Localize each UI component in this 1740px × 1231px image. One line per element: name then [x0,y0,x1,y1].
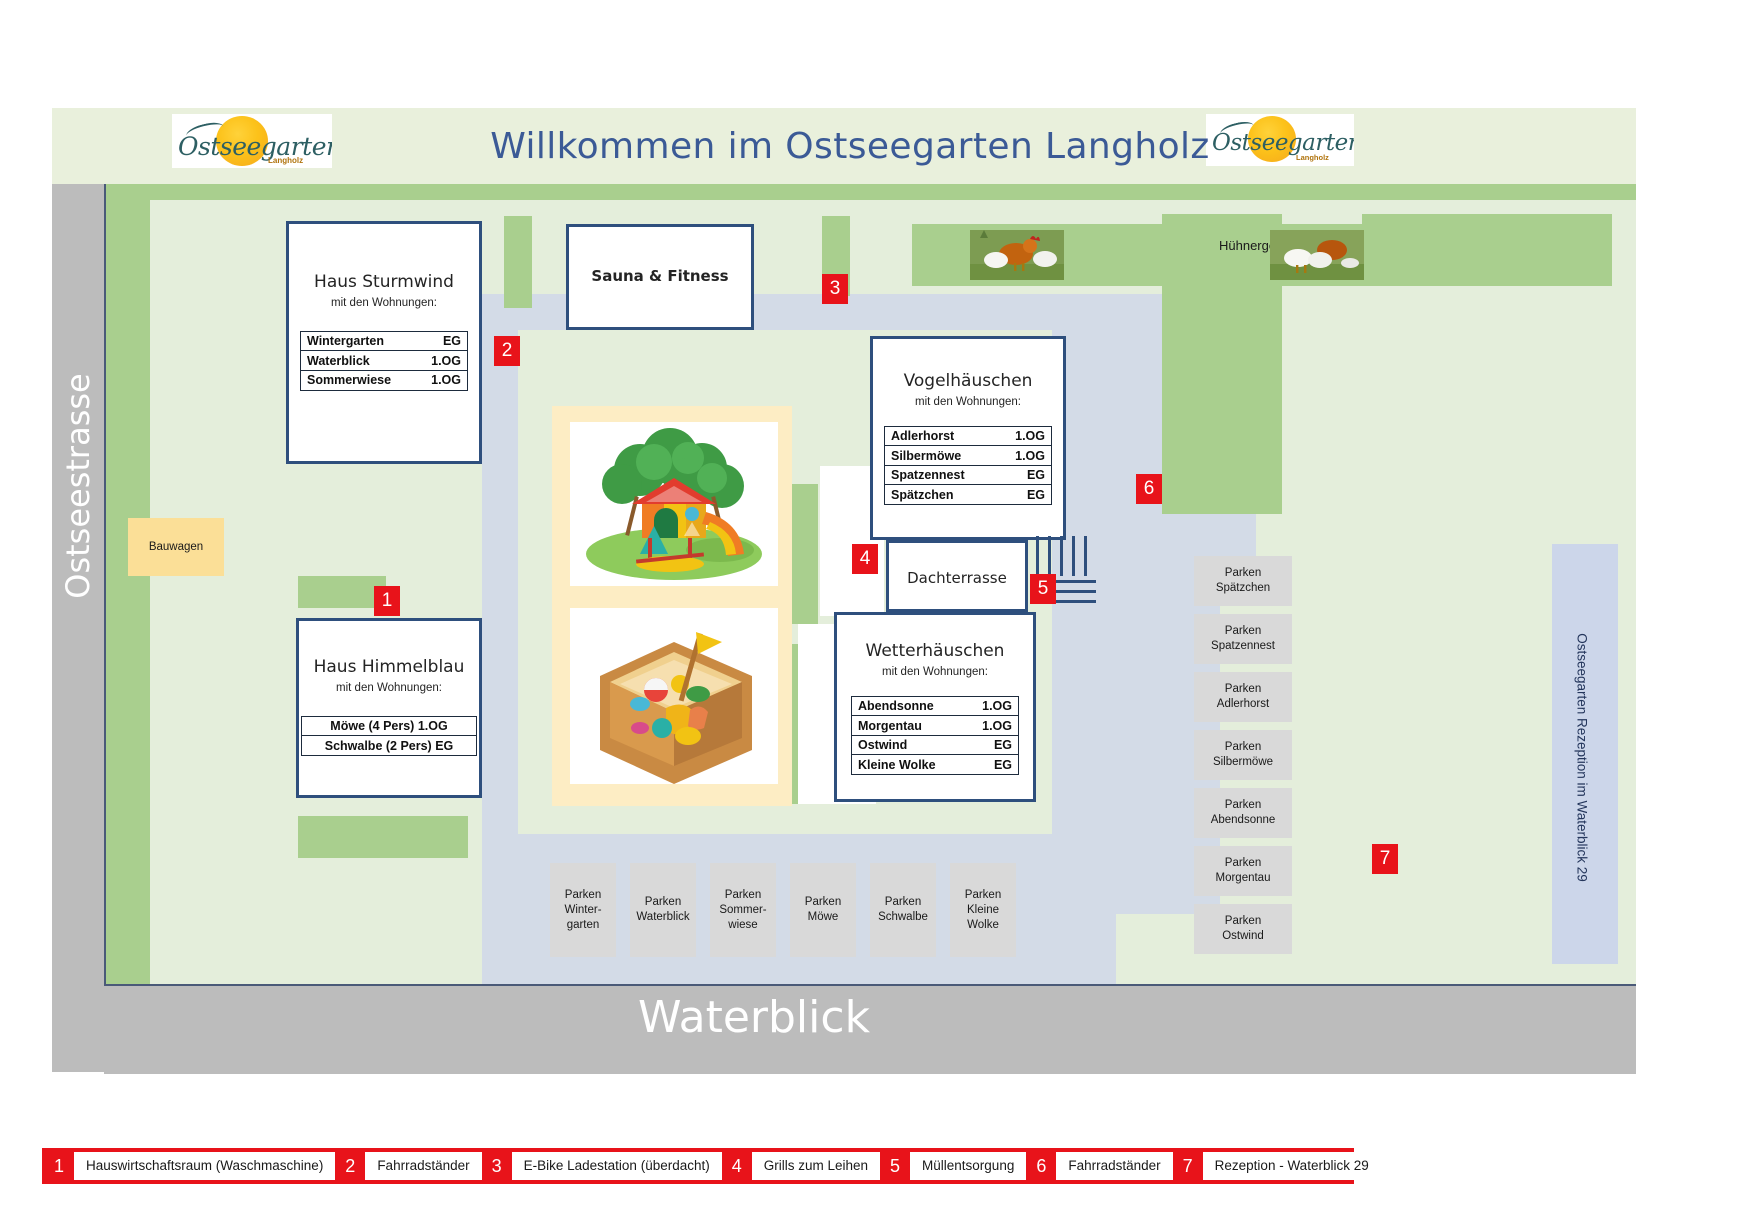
parking-line-2: Winter- [564,903,601,918]
legend-item-7[interactable]: Rezeption - Waterblick 29 [1203,1152,1381,1180]
parking-line-2: Ostwind [1222,929,1264,944]
parking-space[interactable]: Parken Winter- garten [550,863,616,957]
parking-space[interactable]: Parken Spätzchen [1194,556,1292,606]
apartment-floor: EG [994,758,1012,772]
page-title: Willkommen im Ostseegarten Langholz [430,118,1270,176]
parking-line-1: Parken [1225,798,1261,813]
chicken-photo-right [1270,230,1364,280]
sauna-label: Sauna & Fitness [569,267,751,285]
parking-line-2: Möwe [808,910,839,925]
apartment-row[interactable]: Ostwind EG [851,735,1019,756]
apartment-list: Abendsonne 1.OG Morgentau 1.OG Ostwind E… [837,697,1033,775]
logo-left: Ostseegarten Langholz [172,114,332,168]
parking-space[interactable]: Parken Schwalbe [870,863,936,957]
map-badge-2[interactable]: 2 [494,336,520,366]
building-wetterhaeuschen[interactable]: Wetterhäuschen mit den Wohnungen: Abends… [834,612,1036,802]
parking-line-2: Spätzchen [1216,581,1270,596]
legend-bar: 1 Hauswirtschaftsraum (Waschmaschine) 2 … [42,1148,1354,1184]
street-bottom-label: Waterblick [104,992,1404,1043]
map-badge-6[interactable]: 6 [1136,474,1162,504]
building-haus-sturmwind[interactable]: Haus Sturmwind mit den Wohnungen: Winter… [286,221,482,464]
apartment-row[interactable]: Kleine Wolke EG [851,754,1019,775]
building-vogelhaeuschen[interactable]: Vogelhäuschen mit den Wohnungen: Adlerho… [870,336,1066,540]
bauwagen-box: Bauwagen [128,518,224,576]
legend-number: 5 [880,1156,910,1177]
apartment-name: Adlerhorst [891,429,954,443]
dachterrasse-label: Dachterrasse [889,569,1025,587]
parking-line-1: Parken [885,895,921,910]
chicken-image [1270,230,1364,280]
apartment-row[interactable]: Silbermöwe 1.OG [884,445,1052,466]
reception-label: Ostseegarten Rezeption im Waterblick 29 [1575,608,1590,908]
map-badge-7[interactable]: 7 [1372,844,1398,874]
parking-line-1: Parken [805,895,841,910]
parking-line-1: Parken [965,888,1001,903]
apartment-name: Spätzchen [891,488,954,502]
building-name: Vogelhäuschen [873,371,1063,391]
parking-line-2: Adlerhorst [1217,697,1269,712]
apartment-name: Waterblick [307,354,370,368]
apartment-floor: EG [443,334,461,348]
logo-wordmark: Ostseegarten [178,132,332,161]
parking-line-2: Silbermöwe [1213,755,1273,770]
lawn-block-e [298,576,386,608]
legend-item-2[interactable]: Fahrradständer [365,1152,481,1180]
legend-number: 7 [1173,1156,1203,1177]
parking-line-1: Parken [645,895,681,910]
apartment-name: Spatzennest [891,468,965,482]
legend-number: 2 [335,1156,365,1177]
apartment-name: Ostwind [858,738,907,752]
legend-item-6[interactable]: Fahrradständer [1056,1152,1172,1180]
legend-item-3[interactable]: E-Bike Ladestation (überdacht) [512,1152,722,1180]
playground-image [570,422,778,586]
building-subtitle: mit den Wohnungen: [873,396,1063,408]
apartment-row[interactable]: Möwe (4 Pers) 1.OG [301,716,477,737]
apartment-floor: 1.OG [431,373,461,387]
parking-space[interactable]: Parken Spatzennest [1194,614,1292,664]
map-badge-5[interactable]: 5 [1030,574,1056,604]
chicken-photo-left [970,230,1064,280]
parking-space[interactable]: Parken Morgentau [1194,846,1292,896]
building-name: Wetterhäuschen [837,641,1033,661]
apartment-name: Abendsonne [858,699,934,713]
reception-building[interactable]: Ostseegarten Rezeption im Waterblick 29 [1552,544,1618,964]
parking-space[interactable]: Parken Waterblick [630,863,696,957]
parking-line-2: Morgentau [1216,871,1271,886]
building-subtitle: mit den Wohnungen: [837,666,1033,678]
parking-space[interactable]: Parken Abendsonne [1194,788,1292,838]
legend-number: 6 [1026,1156,1056,1177]
parking-line-2: Waterblick [636,910,689,925]
parking-line-2: Spatzennest [1211,639,1275,654]
building-sauna-fitness[interactable]: Sauna & Fitness [566,224,754,330]
legend-item-5[interactable]: Müllentsorgung [910,1152,1026,1180]
lawn-top-strip [150,184,1636,200]
parking-line-1: Parken [1225,856,1261,871]
apartment-list: Adlerhorst 1.OG Silbermöwe 1.OG Spatzenn… [873,427,1063,505]
legend-item-4[interactable]: Grills zum Leihen [752,1152,880,1180]
parking-line-2: Sommer- [719,903,766,918]
apartment-name: Morgentau [858,719,922,733]
building-name: Haus Himmelblau [299,657,479,677]
parking-line-2: Abendsonne [1211,813,1276,828]
parking-space[interactable]: Parken Kleine Wolke [950,863,1016,957]
sandbox-image [570,608,778,784]
parking-line-3: Wolke [967,918,999,933]
apartment-floor: 1.OG [982,719,1012,733]
parking-line-1: Parken [1225,740,1261,755]
parking-line-1: Parken [1225,914,1261,929]
parking-line-2: Schwalbe [878,910,928,925]
apartment-name: Kleine Wolke [858,758,936,772]
parking-space[interactable]: Parken Silbermöwe [1194,730,1292,780]
street-left-label: Ostseestrasse [52,150,104,822]
apartment-name: Silbermöwe [891,449,961,463]
apartment-row[interactable]: Wintergarten EG [300,331,468,352]
legend-item-1[interactable]: Hauswirtschaftsraum (Waschmaschine) [74,1152,335,1180]
parking-line-1: Parken [1225,624,1261,639]
building-subtitle: mit den Wohnungen: [289,297,479,309]
parking-line-3: garten [567,918,600,933]
logo-subtitle: Langholz [1296,153,1329,162]
chicken-image [970,230,1064,280]
apartment-row[interactable]: Schwalbe (2 Pers) EG [301,735,477,756]
apartment-row[interactable]: Adlerhorst 1.OG [884,426,1052,447]
building-name: Haus Sturmwind [289,272,479,292]
apartment-row[interactable]: Abendsonne 1.OG [851,696,1019,717]
lawn-block-f [298,816,468,858]
apartment-floor: 1.OG [431,354,461,368]
apartment-floor: 1.OG [1015,429,1045,443]
lawn-left-strip [104,184,150,984]
building-dachterrasse[interactable]: Dachterrasse [886,540,1028,612]
site-map: Hühnergehege Ostseegarten Re [52,184,1636,1072]
parking-line-1: Parken [725,888,761,903]
apartment-name: Möwe (4 Pers) 1.OG [330,719,447,733]
path-main-vertical [482,294,518,984]
parking-space[interactable]: Parken Sommer- wiese [710,863,776,957]
street-waterblick: Waterblick [104,984,1636,1074]
apartment-row[interactable]: Morgentau 1.OG [851,715,1019,736]
parking-line-3: wiese [728,918,757,933]
parking-line-1: Parken [565,888,601,903]
lawn-block-a [504,216,532,308]
logo-subtitle: Langholz [268,156,303,165]
apartment-name: Schwalbe (2 Pers) EG [325,739,454,753]
apartment-row[interactable]: Waterblick 1.OG [300,350,468,371]
parking-space[interactable]: Parken Adlerhorst [1194,672,1292,722]
map-badge-3[interactable]: 3 [822,274,848,304]
apartment-name: Wintergarten [307,334,384,348]
apartment-floor: EG [1027,468,1045,482]
apartment-row[interactable]: Spätzchen EG [884,484,1052,505]
parking-line-2: Kleine [967,903,999,918]
map-badge-4[interactable]: 4 [852,544,878,574]
apartment-floor: 1.OG [982,699,1012,713]
apartment-row[interactable]: Sommerwiese 1.OG [300,370,468,391]
sandbox-illustration [570,608,778,784]
legend-number: 3 [482,1156,512,1177]
apartment-list: Möwe (4 Pers) 1.OG Schwalbe (2 Pers) EG [299,717,479,756]
playground-illustration [570,422,778,586]
apartment-list: Wintergarten EG Waterblick 1.OG Sommerwi… [289,332,479,391]
apartment-row[interactable]: Spatzennest EG [884,465,1052,486]
apartment-name: Sommerwiese [307,373,391,387]
building-haus-himmelblau[interactable]: Haus Himmelblau mit den Wohnungen: Möwe … [296,618,482,798]
legend-number: 4 [722,1156,752,1177]
parking-space[interactable]: Parken Möwe [790,863,856,957]
apartment-floor: EG [994,738,1012,752]
legend-number: 1 [44,1156,74,1177]
street-ostseestrasse: Ostseestrasse [52,184,106,1072]
building-subtitle: mit den Wohnungen: [299,682,479,694]
parking-line-1: Parken [1225,566,1261,581]
apartment-floor: 1.OG [1015,449,1045,463]
map-badge-1[interactable]: 1 [374,586,400,616]
lawn-block-c [792,484,818,624]
parking-space[interactable]: Parken Ostwind [1194,904,1292,954]
apartment-floor: EG [1027,488,1045,502]
parking-line-1: Parken [1225,682,1261,697]
